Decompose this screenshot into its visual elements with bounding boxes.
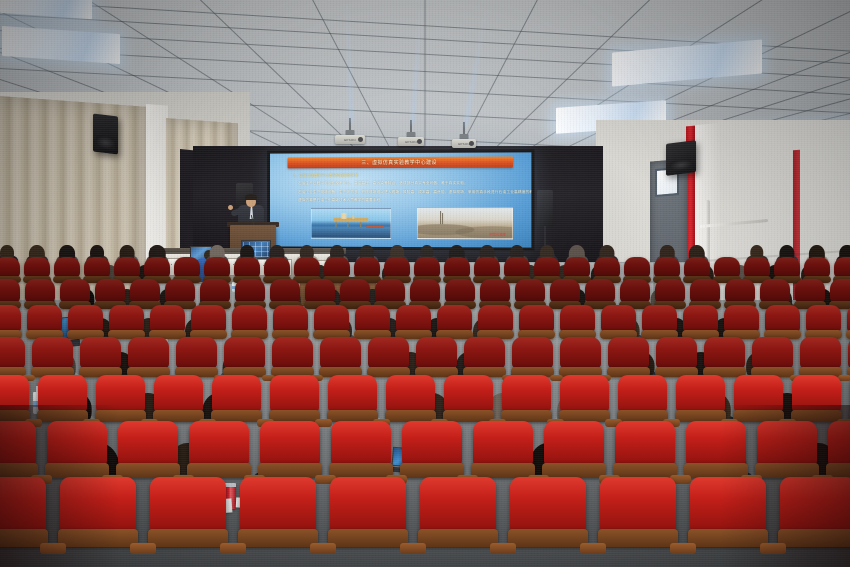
audience-seat[interactable]	[765, 305, 800, 339]
seat-back	[480, 279, 510, 302]
seat-wood-trim	[778, 529, 850, 547]
seat-armrest-left	[678, 475, 691, 484]
audience-seat[interactable]	[560, 337, 601, 377]
seat-back	[414, 257, 440, 277]
seat-back	[150, 477, 226, 532]
audience-seat[interactable]	[68, 305, 103, 339]
seat-back	[384, 257, 410, 277]
slide-image-watermark: 中国石油报	[489, 232, 506, 236]
audience-seat[interactable]	[608, 337, 649, 377]
projector-brand-label: EPSON	[335, 138, 365, 142]
seat-back	[620, 279, 650, 302]
seat-armrest-left	[842, 375, 850, 381]
seat-wood-trim	[328, 529, 409, 547]
seat-back	[375, 279, 405, 302]
seat-back	[270, 279, 300, 302]
audience-seat[interactable]	[502, 375, 551, 422]
audience-seat[interactable]	[560, 305, 595, 339]
seat-back	[420, 477, 496, 532]
seat-back	[176, 337, 217, 368]
ceiling-projector: EPSON	[452, 122, 476, 150]
audience-seat[interactable]	[601, 305, 636, 339]
audience-seat[interactable]	[683, 305, 718, 339]
seat-back	[144, 257, 170, 277]
seat-back	[232, 305, 267, 332]
seat-back	[642, 305, 677, 332]
seat-back	[38, 375, 87, 412]
seat-back	[320, 337, 361, 368]
seat-back	[594, 257, 620, 277]
seat-back	[624, 257, 650, 277]
seat-back	[95, 279, 125, 302]
audience-seat[interactable]	[402, 421, 462, 478]
seat-back	[560, 337, 601, 368]
audience-seat[interactable]	[272, 337, 313, 377]
seat-back	[757, 421, 817, 465]
seat-back	[676, 375, 725, 412]
audience-seat[interactable]	[792, 375, 841, 422]
slide-title-text: 三、虚拟仿真实验教学中心建设	[361, 159, 436, 166]
seat-back	[437, 305, 472, 332]
seat-armrest-left	[139, 543, 156, 554]
audience-seat[interactable]	[519, 305, 554, 339]
seat-wood-trim	[508, 529, 589, 547]
seat-wood-trim	[148, 529, 229, 547]
audience-seat[interactable]	[368, 337, 409, 377]
seat-back	[60, 477, 136, 532]
seat-back	[354, 257, 380, 277]
audience-seat[interactable]	[0, 337, 25, 377]
audience-seat[interactable]	[734, 375, 783, 422]
seat-armrest-left	[769, 543, 786, 554]
audience-seat[interactable]	[154, 375, 203, 422]
slide-title-bar: 三、虚拟仿真实验教学中心建设	[288, 156, 513, 168]
seat-back	[615, 421, 675, 465]
seat-back	[368, 337, 409, 368]
seat-back	[0, 279, 20, 302]
seat-back	[752, 337, 793, 368]
seat-back	[510, 477, 586, 532]
seat-back	[656, 337, 697, 368]
audience-seat[interactable]	[757, 421, 817, 478]
seat-back	[502, 375, 551, 412]
ceiling-projector: EPSON	[398, 120, 424, 148]
auditorium-photo: 三、虚拟仿真实验教学中心建设 1、石油工业虚拟中心虚拟仿真建设背景 石油生产过程…	[0, 0, 850, 567]
projector-brand-label: EPSON	[398, 140, 424, 144]
seat-back	[512, 337, 553, 368]
audience-seat[interactable]	[150, 477, 226, 547]
slide-bullet-0: 1、石油工业虚拟中心虚拟仿真建设背景	[293, 173, 359, 178]
audience-seat[interactable]	[47, 421, 107, 478]
seat-back	[355, 305, 390, 332]
seat-wood-trim	[688, 529, 769, 547]
audience-seat[interactable]	[96, 375, 145, 422]
seat-back	[618, 375, 667, 412]
seat-back	[27, 305, 62, 332]
seat-back	[47, 421, 107, 465]
seat-back	[714, 257, 740, 277]
slide-bullet-3: 虚拟仿真是石油工业高级技术人员教学的重要手段。	[298, 198, 384, 203]
seat-back	[704, 337, 745, 368]
seat-back	[68, 305, 103, 332]
audience-seat[interactable]	[437, 305, 472, 339]
seat-back	[519, 305, 554, 332]
seat-back	[114, 257, 140, 277]
audience-seat[interactable]	[690, 477, 766, 547]
audience-seat[interactable]	[60, 477, 136, 547]
seat-back	[560, 375, 609, 412]
seat-back	[154, 375, 203, 412]
seat-back	[118, 421, 178, 465]
seat-armrest-left	[499, 543, 516, 554]
seat-back	[0, 305, 21, 332]
seat-back	[80, 337, 121, 368]
audience-seat[interactable]	[270, 375, 319, 422]
audience-seat[interactable]	[686, 421, 746, 478]
seat-back	[725, 279, 755, 302]
audience-seat[interactable]	[676, 375, 725, 422]
audience-seat[interactable]	[510, 477, 586, 547]
seat-back	[564, 257, 590, 277]
seat-back	[212, 375, 261, 412]
seat-back	[150, 305, 185, 332]
seat-back	[686, 421, 746, 465]
slide-content: 三、虚拟仿真实验教学中心建设 1、石油工业虚拟中心虚拟仿真建设背景 石油生产过程…	[270, 152, 531, 247]
seat-back	[683, 305, 718, 332]
seat-back	[504, 257, 530, 277]
seat-wood-trim	[238, 529, 319, 547]
seat-back	[444, 375, 493, 412]
seat-back	[165, 279, 195, 302]
seat-back	[780, 477, 850, 532]
seat-back	[96, 375, 145, 412]
audience-seat[interactable]	[544, 421, 604, 478]
seat-back	[189, 421, 249, 465]
seat-wood-trim	[542, 463, 606, 478]
seat-back	[240, 477, 316, 532]
seat-back	[550, 279, 580, 302]
audience-seat[interactable]	[128, 337, 169, 377]
seat-back	[600, 477, 676, 532]
audience-seat[interactable]	[444, 375, 493, 422]
audience-seat[interactable]	[314, 305, 349, 339]
seat-wood-trim	[755, 463, 819, 478]
audience-seat[interactable]	[396, 305, 431, 339]
audience-seat[interactable]	[512, 337, 553, 377]
seat-back	[32, 337, 73, 368]
ceiling-projector: EPSON	[335, 118, 365, 146]
audience-seat[interactable]	[600, 477, 676, 547]
seat-armrest-left	[49, 543, 66, 554]
seat-wood-trim	[598, 529, 679, 547]
seat-wood-trim	[684, 463, 748, 478]
audience-area	[0, 255, 850, 567]
seat-back	[234, 257, 260, 277]
seat-back	[273, 305, 308, 332]
seat-back	[830, 279, 850, 302]
seat-back	[800, 337, 841, 368]
seat-back	[25, 279, 55, 302]
seat-back	[834, 257, 850, 277]
audience-seat[interactable]	[420, 477, 496, 547]
seat-back	[264, 257, 290, 277]
seat-back	[314, 305, 349, 332]
seat-wood-trim	[329, 463, 393, 478]
audience-seat[interactable]	[656, 337, 697, 377]
seat-back	[0, 421, 36, 465]
audience-seat[interactable]	[330, 477, 406, 547]
audience-seat[interactable]	[232, 305, 267, 339]
seat-back	[331, 421, 391, 465]
seat-back	[0, 337, 25, 368]
seat-back	[734, 375, 783, 412]
audience-seat[interactable]	[176, 337, 217, 377]
seat-back	[792, 375, 841, 412]
audience-seat[interactable]	[80, 337, 121, 377]
audience-seat[interactable]	[355, 305, 390, 339]
seat-back	[515, 279, 545, 302]
audience-seat[interactable]	[478, 305, 513, 339]
seat-back	[534, 257, 560, 277]
projection-screen: 三、虚拟仿真实验教学中心建设 1、石油工业虚拟中心虚拟仿真建设背景 石油生产过程…	[267, 149, 534, 250]
slide-bullet-2: 石油工业生产现场设备、生产环节多、开放现场难以进入现场，风险高、成本高、高危险，…	[298, 189, 531, 194]
seat-back	[690, 477, 766, 532]
seat-armrest-left	[409, 543, 426, 554]
seat-back	[324, 257, 350, 277]
seat-back	[24, 257, 50, 277]
seat-back	[654, 257, 680, 277]
seat-back	[0, 477, 46, 532]
seat-back	[445, 279, 475, 302]
slide-bullet-1: 石油生产过程中可见性及不可见、高温高压、高污染等特点，造成部分真实专业可做、难于…	[298, 181, 468, 186]
seat-back	[828, 421, 850, 465]
seat-back	[330, 477, 406, 532]
seat-back	[130, 279, 160, 302]
audience-seat[interactable]	[27, 305, 62, 339]
audience-seat[interactable]	[273, 305, 308, 339]
seat-back	[272, 337, 313, 368]
audience-seat[interactable]	[642, 305, 677, 339]
seat-wood-trim	[45, 463, 109, 478]
audience-seat[interactable]	[473, 421, 533, 478]
seat-back	[744, 257, 770, 277]
seat-wood-trim	[116, 463, 180, 478]
audience-seat[interactable]	[109, 305, 144, 339]
projector-brand-label: EPSON	[452, 142, 476, 146]
seat-back	[305, 279, 335, 302]
audience-seat[interactable]	[724, 305, 759, 339]
seat-back	[444, 257, 470, 277]
seat-back	[464, 337, 505, 368]
seat-back	[0, 375, 29, 412]
seat-back	[235, 279, 265, 302]
slide-image-offshore-platform	[311, 207, 391, 239]
seat-wood-trim	[258, 463, 322, 478]
seat-back	[795, 279, 825, 302]
seat-back	[655, 279, 685, 302]
seat-back	[560, 305, 595, 332]
audience-seat[interactable]	[806, 305, 841, 339]
seat-back	[684, 257, 710, 277]
seat-back	[396, 305, 431, 332]
audience-seat[interactable]	[780, 477, 850, 547]
seat-back	[474, 257, 500, 277]
audience-seat[interactable]	[0, 477, 46, 547]
seat-wood-trim	[187, 463, 251, 478]
seat-back	[109, 305, 144, 332]
seat-back	[191, 305, 226, 332]
seat-back	[386, 375, 435, 412]
seat-back	[765, 305, 800, 332]
seat-back	[402, 421, 462, 465]
floor-speaker-right	[537, 190, 553, 250]
audience-seat[interactable]	[828, 421, 850, 478]
audience-seat[interactable]	[618, 375, 667, 422]
seat-back	[60, 279, 90, 302]
audience-seat[interactable]	[320, 337, 361, 377]
seat-back	[260, 421, 320, 465]
seat-back	[601, 305, 636, 332]
seat-back	[128, 337, 169, 368]
audience-seat[interactable]	[212, 375, 261, 422]
seat-armrest-left	[589, 543, 606, 554]
audience-seat[interactable]	[32, 337, 73, 377]
seat-wood-trim	[400, 463, 464, 478]
audience-seat[interactable]	[386, 375, 435, 422]
seat-armrest-left	[229, 543, 246, 554]
slide-image-desert-oilfield: 中国石油报	[417, 207, 512, 240]
seat-back	[804, 257, 830, 277]
seat-back	[174, 257, 200, 277]
seat-back	[585, 279, 615, 302]
audience-seat[interactable]	[416, 337, 457, 377]
seat-back	[224, 337, 265, 368]
seat-back	[774, 257, 800, 277]
seat-back	[410, 279, 440, 302]
seat-back	[806, 305, 841, 332]
seat-wood-trim	[471, 463, 535, 478]
audience-seat[interactable]	[328, 375, 377, 422]
seat-wood-trim	[613, 463, 677, 478]
seat-back	[328, 375, 377, 412]
ceiling-light-panel	[612, 39, 762, 86]
seat-back	[416, 337, 457, 368]
seat-armrest-left	[319, 543, 336, 554]
audience-seat[interactable]	[260, 421, 320, 478]
seat-back	[54, 257, 80, 277]
seat-wood-trim	[58, 529, 139, 547]
seat-back	[200, 279, 230, 302]
presenter-hair	[245, 194, 257, 200]
seat-back	[340, 279, 370, 302]
audience-seat[interactable]	[560, 375, 609, 422]
seat-back	[294, 257, 320, 277]
seat-back	[760, 279, 790, 302]
audience-seat[interactable]	[752, 337, 793, 377]
seat-back	[473, 421, 533, 465]
audience-seat[interactable]	[118, 421, 178, 478]
seat-back	[724, 305, 759, 332]
seat-back	[690, 279, 720, 302]
presenter-hand	[228, 205, 233, 210]
audience-seat[interactable]	[150, 305, 185, 339]
wall-speaker-right	[666, 140, 696, 176]
audience-seat[interactable]	[240, 477, 316, 547]
audience-seat[interactable]	[0, 375, 29, 422]
audience-seat[interactable]	[615, 421, 675, 478]
audience-seat[interactable]	[224, 337, 265, 377]
audience-seat[interactable]	[331, 421, 391, 478]
seat-wood-trim	[418, 529, 499, 547]
seat-back	[204, 257, 230, 277]
seat-back	[84, 257, 110, 277]
seat-back	[270, 375, 319, 412]
seat-back	[608, 337, 649, 368]
audience-seat[interactable]	[0, 421, 36, 478]
audience-seat[interactable]	[191, 305, 226, 339]
audience-seat[interactable]	[464, 337, 505, 377]
wall-speaker-left	[93, 113, 118, 154]
seat-armrest-left	[679, 543, 696, 554]
audience-seat[interactable]	[0, 305, 21, 339]
seat-back	[478, 305, 513, 332]
seat-back	[0, 257, 20, 277]
audience-seat[interactable]	[800, 337, 841, 377]
seat-back	[544, 421, 604, 465]
audience-seat[interactable]	[704, 337, 745, 377]
audience-seat[interactable]	[38, 375, 87, 422]
audience-seat[interactable]	[189, 421, 249, 478]
